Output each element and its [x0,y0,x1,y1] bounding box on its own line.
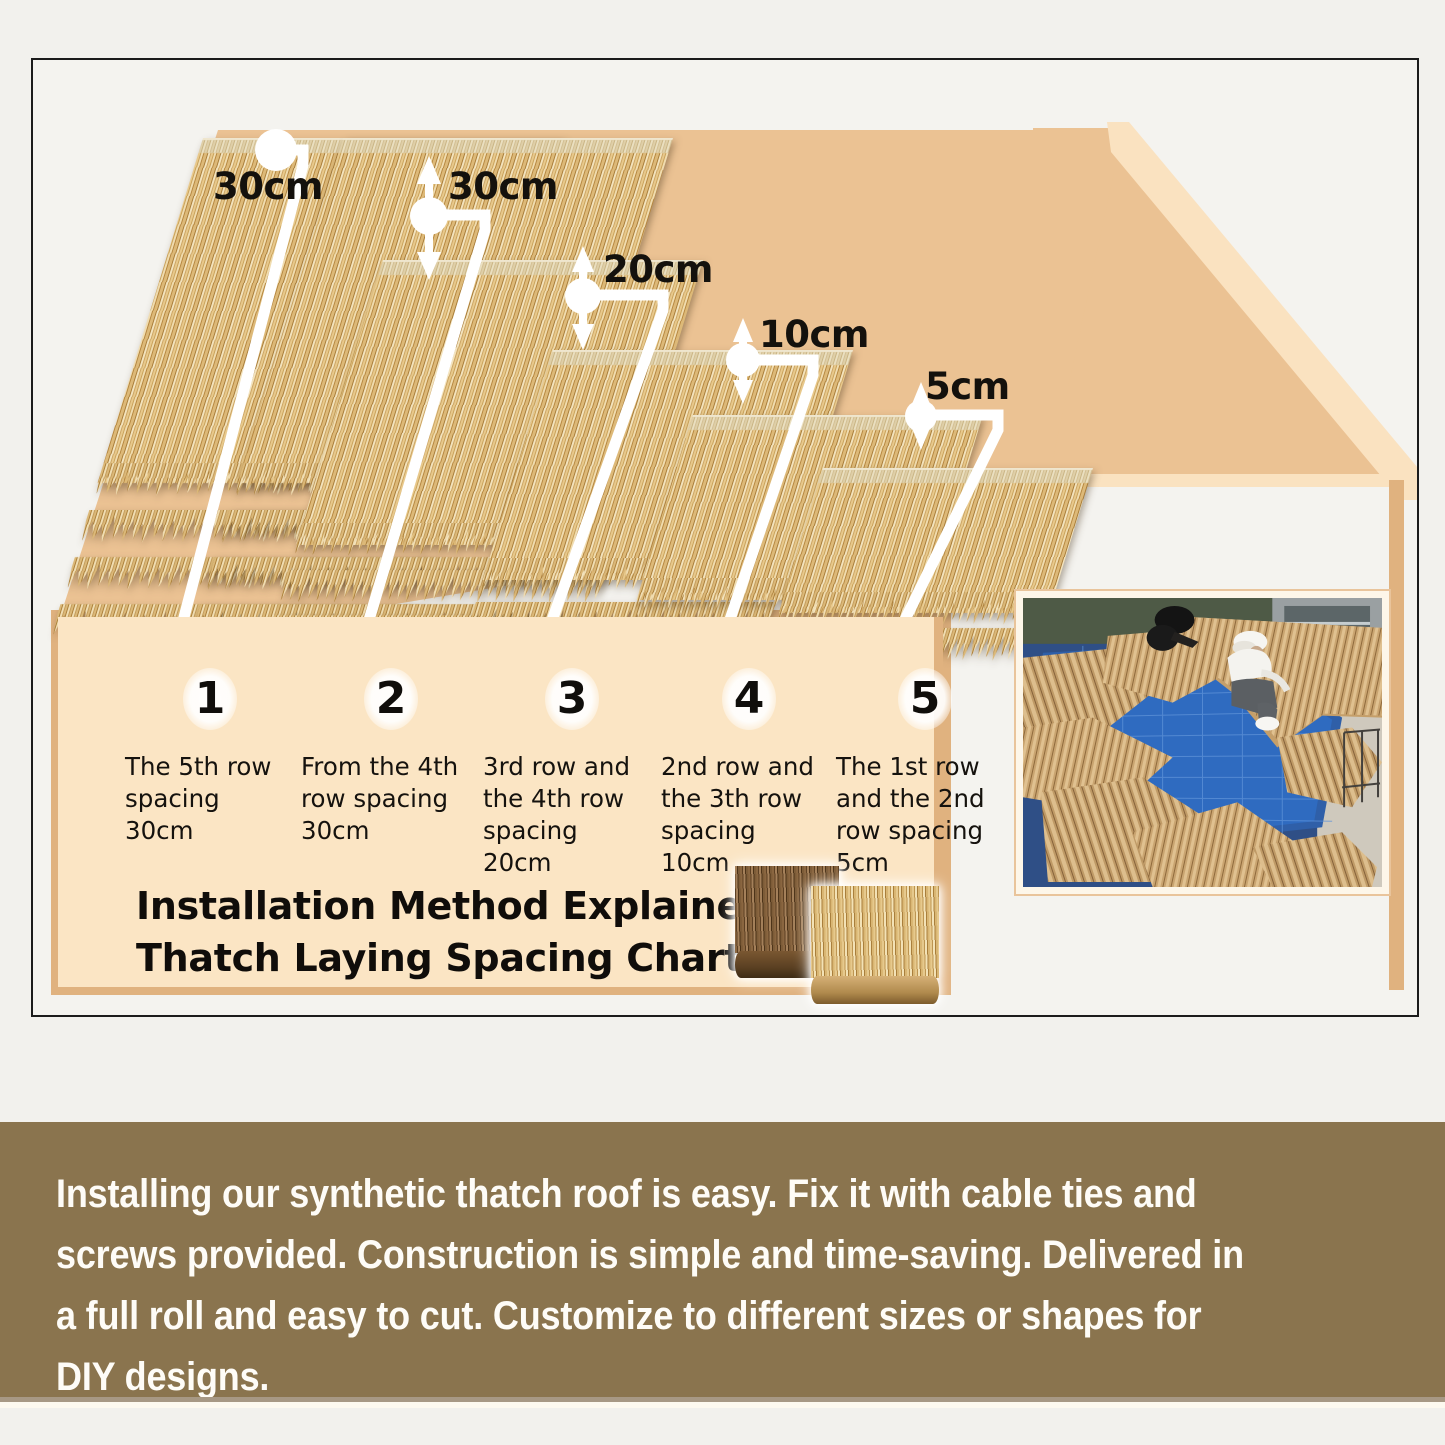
installation-photo: Two workers installing synthetic thatch … [1016,591,1389,894]
chart-title-line-1: Installation Method Explained : [136,880,797,932]
caption-line: 2nd row and [661,751,839,783]
chart-title-line-2: Thatch Laying Spacing Chart [136,932,797,984]
caption-line: the 4th row [483,783,661,815]
number-badge-3: 3 [545,668,599,730]
caption-column-4: 2nd row and the 3th row spacing 10cm [661,751,839,879]
leader-line-1 [178,150,303,640]
caption-line: 30cm [301,815,479,847]
callout-label-5: 5cm [925,365,1010,408]
leader-line-3 [545,295,663,640]
caption-line: 20cm [483,847,661,879]
leader-line-2 [363,215,485,640]
caption-line: spacing [125,783,303,815]
banner-strip-lower [0,1402,1445,1408]
caption-line: the 3th row [661,783,839,815]
caption-line: 30cm [125,815,303,847]
caption-line: spacing [661,815,839,847]
caption-line: The 5th row [125,751,303,783]
caption-column-3: 3rd row and the 4th row spacing 20cm [483,751,661,879]
number-badge-2: 2 [364,668,418,730]
thatch-roll-product-images [733,866,963,1006]
infographic-frame: 30cm 30cm 20cm 10cm 5cm 1 2 3 4 5 The 5t… [31,58,1419,1017]
number-badge-1: 1 [183,668,237,730]
caption-column-2: From the 4th row spacing 30cm [301,751,479,847]
leader-line-4 [723,360,813,640]
leader-line-5 [895,415,998,640]
roll-tube [811,976,939,1004]
caption-line: row spacing [301,783,479,815]
caption-line: 3rd row and [483,751,661,783]
callout-label-1: 30cm [213,165,323,208]
caption-column-5: The 1st row and the 2nd row spacing 5cm [836,751,1014,879]
banner-text: Installing our synthetic thatch roof is … [56,1164,1253,1408]
installation-photo-svg: Two workers installing synthetic thatch … [1023,598,1382,887]
number-badge-5: 5 [898,668,952,730]
bottom-description-banner: Installing our synthetic thatch roof is … [0,1122,1445,1397]
caption-line: spacing [483,815,661,847]
callout-label-2: 30cm [448,165,558,208]
callout-label-4: 10cm [759,313,869,356]
caption-line: The 1st row [836,751,1014,783]
number-badge-4: 4 [722,668,776,730]
caption-line: and the 2nd [836,783,1014,815]
golden-thatch-roll [811,886,939,1004]
roll-bristles [811,886,939,978]
chart-title: Installation Method Explained : Thatch L… [136,880,797,984]
caption-column-1: The 5th row spacing 30cm [125,751,303,847]
caption-line: row spacing [836,815,1014,847]
caption-line: From the 4th [301,751,479,783]
callout-label-3: 20cm [603,248,713,291]
